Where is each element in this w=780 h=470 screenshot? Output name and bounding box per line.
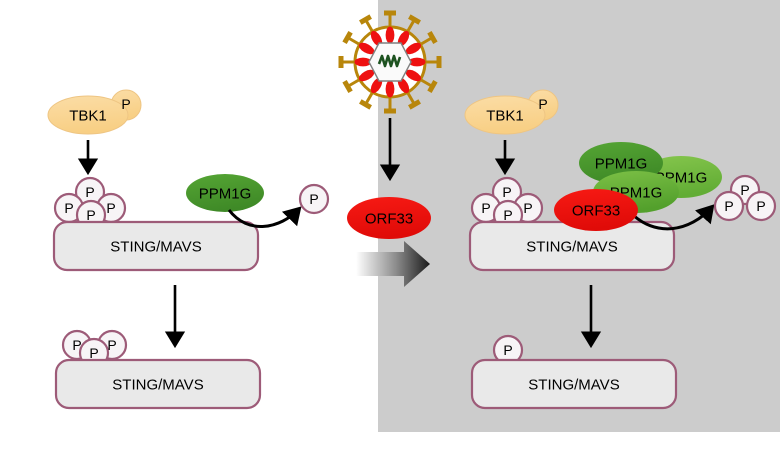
- right-released-phospho-label-2: P: [724, 198, 733, 214]
- right-top-phospho-label-4: P: [503, 207, 512, 223]
- left-released-phosphate: P: [300, 185, 328, 213]
- left-top-phospho-label-2: P: [64, 200, 73, 216]
- left-ppm1g-label: PPM1G: [199, 186, 252, 203]
- right-bottom-membrane-label: STING/MAVS: [528, 377, 619, 394]
- left-bottom-phospho-label-1: P: [72, 337, 81, 353]
- diagram-svg: TBK1 P P P P P STING/MAVS PPM1G: [0, 0, 780, 470]
- right-top-phospho-label-3: P: [523, 200, 532, 216]
- left-bottom-membrane-label: STING/MAVS: [112, 377, 203, 394]
- right-tbk1-label: TBK1: [486, 108, 524, 125]
- left-top-phospho-label-1: P: [85, 184, 94, 200]
- center-orf33[interactable]: ORF33: [347, 197, 431, 239]
- left-ppm1g[interactable]: PPM1G: [186, 174, 264, 212]
- right-released-phospho-label-1: P: [740, 182, 749, 198]
- left-top-phospho-label-3: P: [106, 200, 115, 216]
- left-bottom-phospho-label-2: P: [107, 337, 116, 353]
- figure-canvas: TBK1 P P P P P STING/MAVS PPM1G: [0, 0, 780, 470]
- left-tbk1-label: TBK1: [69, 108, 107, 125]
- right-top-phospho-label-2: P: [481, 200, 490, 216]
- right-tbk1-phospho-label: P: [538, 96, 547, 112]
- right-released-phospho-label-3: P: [756, 198, 765, 214]
- right-orf33[interactable]: ORF33: [554, 189, 638, 231]
- left-bottom-phospho-label-3: P: [89, 345, 98, 361]
- left-top-membrane-label: STING/MAVS: [110, 239, 201, 256]
- left-top-phospho-label-4: P: [86, 207, 95, 223]
- right-top-membrane-label: STING/MAVS: [526, 239, 617, 256]
- right-top-phospho-label-1: P: [502, 184, 511, 200]
- left-tbk1-phospho-label: P: [121, 96, 130, 112]
- center-orf33-label: ORF33: [365, 211, 413, 228]
- right-orf33-label: ORF33: [572, 203, 620, 220]
- left-released-phospho-label: P: [309, 191, 318, 207]
- right-ppm1g-label-1: PPM1G: [595, 156, 648, 173]
- right-bottom-phospho-label-1: P: [503, 342, 512, 358]
